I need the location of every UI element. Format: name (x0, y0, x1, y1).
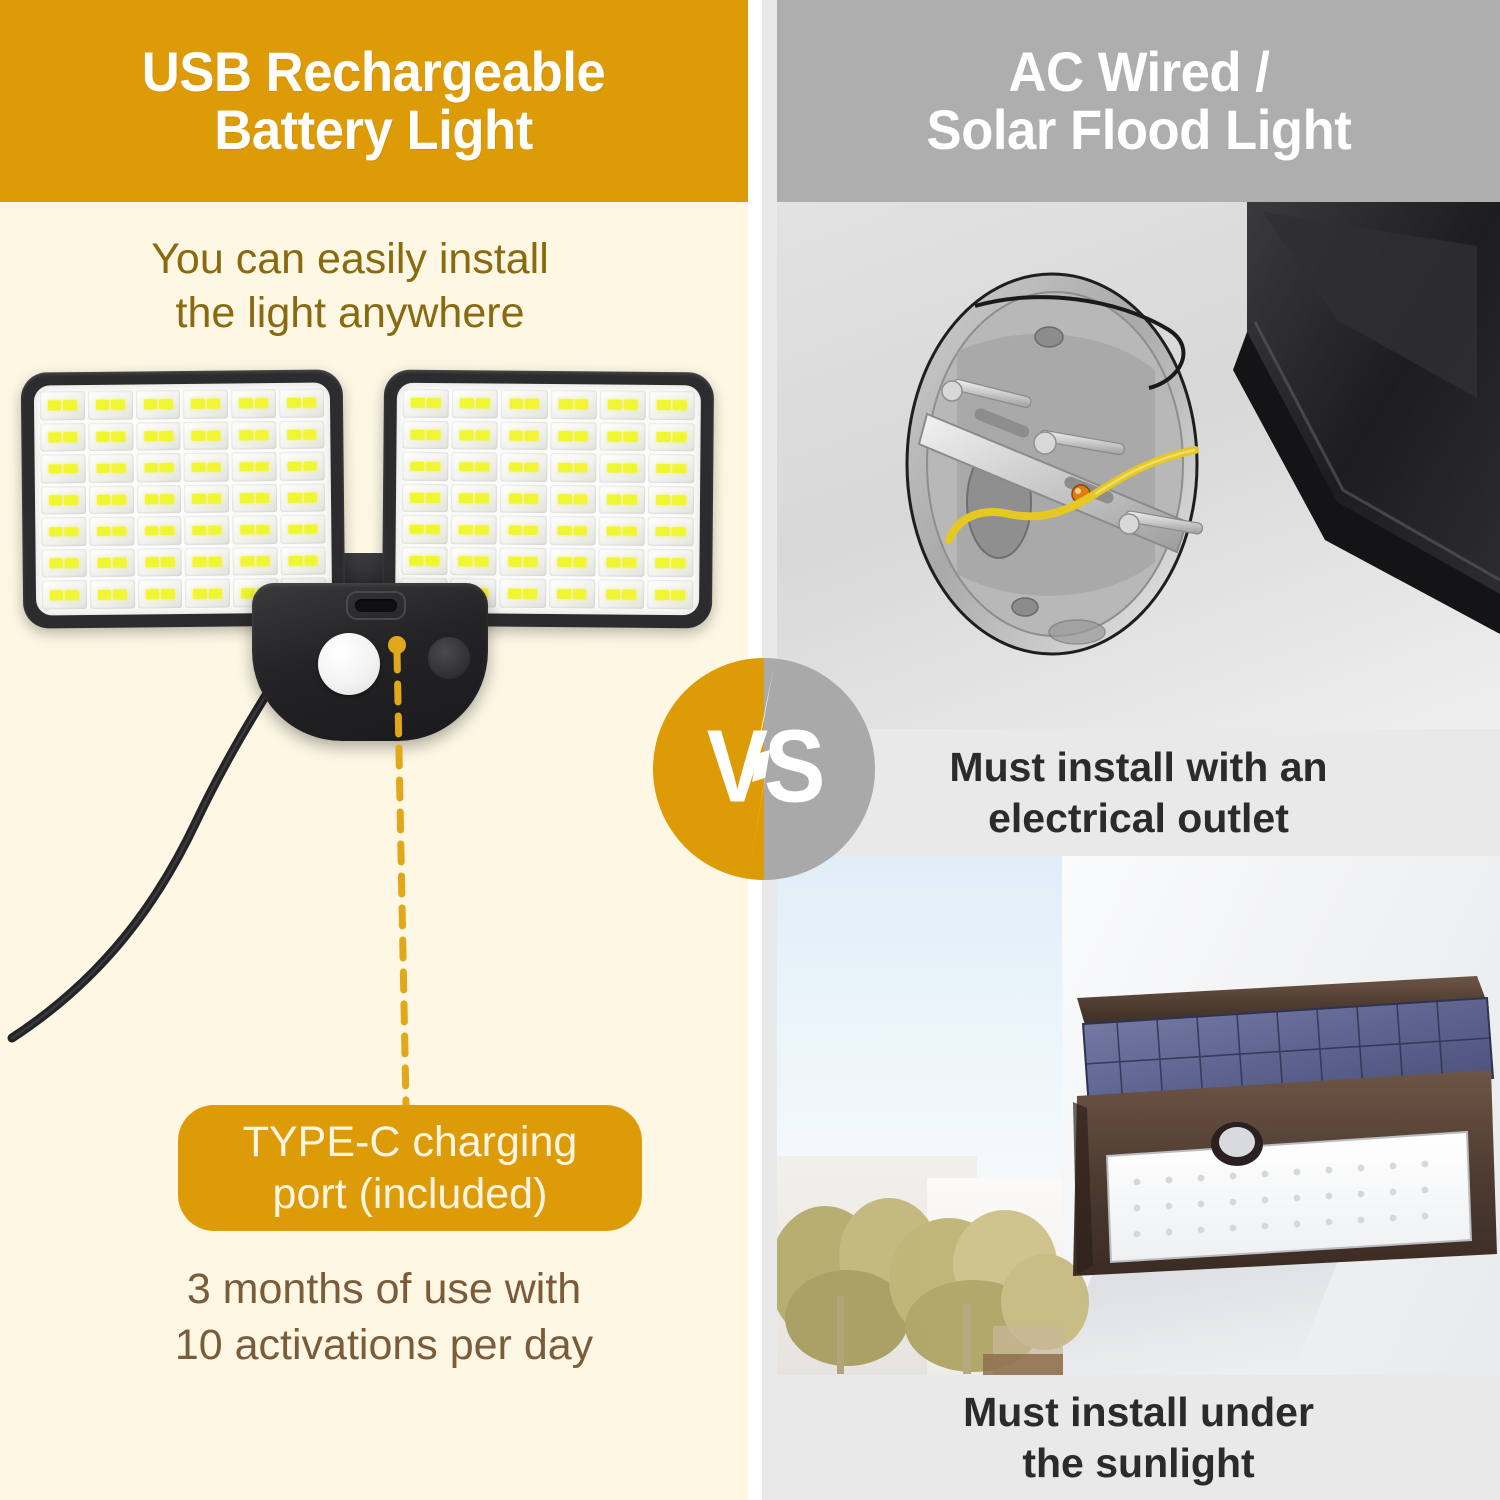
led-chip (304, 493, 318, 503)
led-chip (509, 431, 523, 441)
led-chip (192, 431, 206, 441)
led-chip (672, 464, 686, 474)
led-cell (401, 547, 447, 576)
battery-life-line2: 10 activations per day (124, 1318, 644, 1374)
led-cell (88, 454, 133, 483)
led-cell (647, 517, 693, 546)
led-chip (411, 430, 425, 440)
led-chip (411, 398, 425, 408)
led-cell (41, 517, 86, 546)
led-lens-right (395, 383, 701, 616)
led-chip (50, 559, 64, 569)
led-cell (233, 547, 278, 576)
led-chip (193, 557, 207, 567)
led-chip (97, 526, 111, 536)
right-header-banner: AC Wired / Solar Flood Light (777, 0, 1500, 202)
led-chip (303, 430, 317, 440)
led-chip (426, 461, 440, 471)
led-cell (232, 421, 277, 450)
led-chip (209, 588, 223, 598)
led-chip (303, 398, 317, 408)
led-chip (508, 588, 522, 598)
led-chip (65, 590, 79, 600)
led-chip (192, 462, 206, 472)
led-chip (65, 527, 79, 537)
led-chip (475, 557, 489, 567)
led-chip (304, 524, 318, 534)
led-chip (240, 493, 254, 503)
led-chip (524, 557, 538, 567)
led-cell (550, 390, 596, 419)
led-cell (89, 517, 134, 546)
left-subtitle-line1: You can easily install (0, 232, 700, 286)
led-cell (137, 548, 182, 577)
left-header-banner: USB Rechargeable Battery Light (0, 0, 748, 202)
outdoor-scene-trees (777, 856, 1500, 1375)
led-chip (144, 431, 158, 441)
usb-c-port-icon (355, 599, 397, 612)
led-chip (113, 589, 127, 599)
led-chip (410, 524, 424, 534)
led-chip (460, 430, 474, 440)
led-chip (427, 430, 441, 440)
led-cell (41, 454, 86, 483)
led-chip (509, 494, 523, 504)
led-chip (606, 589, 620, 599)
led-cell (598, 517, 644, 546)
led-chip (111, 400, 125, 410)
led-chip (161, 557, 175, 567)
ac-wired-caption: Must install with an electrical outlet (777, 729, 1500, 856)
led-chip (112, 432, 126, 442)
led-chip (50, 590, 64, 600)
led-chip (208, 462, 222, 472)
led-chip (459, 525, 473, 535)
led-chip (608, 400, 622, 410)
led-chip (525, 431, 539, 441)
led-chip (63, 401, 77, 411)
led-chip (289, 556, 303, 566)
led-chip (287, 430, 301, 440)
callout-anchor-dot (388, 636, 406, 654)
led-cell (598, 580, 644, 609)
led-chip (160, 526, 174, 536)
led-chip (426, 525, 440, 535)
led-cell (185, 547, 230, 576)
led-chip (207, 399, 221, 409)
led-chip (64, 495, 78, 505)
led-chip (192, 494, 206, 504)
led-chip (97, 558, 111, 568)
led-chip (208, 525, 222, 535)
led-cell (184, 453, 229, 482)
led-chip (48, 432, 62, 442)
led-cell (500, 547, 546, 576)
led-chip (303, 461, 317, 471)
led-chip (607, 432, 621, 442)
led-chip (160, 463, 174, 473)
led-chip (425, 556, 439, 566)
led-cell (402, 515, 448, 544)
led-chip (98, 590, 112, 600)
led-cell (599, 454, 645, 483)
led-cell (647, 549, 693, 578)
infographic-root: USB Rechargeable Battery Light You can e… (0, 0, 1500, 1500)
led-cell (88, 422, 133, 451)
solar-caption: Must install under the sunlight (777, 1375, 1500, 1500)
led-cell (599, 422, 645, 451)
led-chip (410, 556, 424, 566)
led-chip (256, 525, 270, 535)
solar-wall-light-photo (777, 856, 1500, 1375)
led-chip (574, 431, 588, 441)
motion-sensor-dome (318, 633, 380, 695)
led-cell (89, 485, 134, 514)
led-chip (96, 432, 110, 442)
led-chip (49, 495, 63, 505)
led-cell (138, 579, 183, 608)
led-cell (88, 391, 133, 420)
led-chip (96, 463, 110, 473)
led-chip (672, 432, 686, 442)
led-chip (460, 462, 474, 472)
led-chip (256, 556, 270, 566)
led-chip (159, 431, 173, 441)
led-cell (42, 549, 87, 578)
led-chip (524, 525, 538, 535)
led-chip (146, 589, 160, 599)
led-chip (557, 557, 571, 567)
led-chip (525, 462, 539, 472)
led-chip (656, 464, 670, 474)
led-cell (136, 453, 181, 482)
led-chip (509, 462, 523, 472)
dual-head-led-flood-light (0, 355, 740, 775)
solar-caption-text: Must install under the sunlight (963, 1387, 1314, 1489)
led-chip (623, 463, 637, 473)
led-chip (241, 525, 255, 535)
led-cell (550, 422, 596, 451)
led-chip (113, 558, 127, 568)
led-chip (524, 589, 538, 599)
power-button (428, 637, 470, 679)
led-chip (623, 495, 637, 505)
right-header-line1: AC Wired / (926, 43, 1351, 101)
led-cell (403, 389, 449, 418)
led-chip (144, 400, 158, 410)
led-chip (209, 557, 223, 567)
junction-box-illustration (777, 202, 1500, 729)
led-chip (145, 526, 159, 536)
led-chip (655, 590, 669, 600)
led-cell (501, 390, 547, 419)
led-chip (574, 463, 588, 473)
led-chip (476, 430, 490, 440)
led-chip (459, 557, 473, 567)
led-chip (288, 493, 302, 503)
led-cell (649, 391, 695, 420)
led-chip (112, 495, 126, 505)
led-chip (557, 589, 571, 599)
led-cell (451, 484, 497, 513)
led-cell (500, 484, 546, 513)
led-chip (427, 398, 441, 408)
led-cell (232, 452, 277, 481)
led-chip (410, 461, 424, 471)
led-cell (280, 483, 325, 512)
led-cell (279, 420, 324, 449)
led-chip (159, 400, 173, 410)
led-chip (426, 493, 440, 503)
led-cell (231, 389, 276, 418)
led-chip (574, 400, 588, 410)
led-chip (657, 400, 671, 410)
led-chip (656, 527, 670, 537)
led-chip (64, 464, 78, 474)
led-chip (144, 463, 158, 473)
led-cell (281, 546, 326, 575)
led-cell (185, 516, 230, 545)
led-cell (598, 548, 644, 577)
led-chip (508, 557, 522, 567)
led-chip (410, 493, 424, 503)
led-cell (41, 486, 86, 515)
solar-caption-line1: Must install under (963, 1387, 1314, 1438)
led-chip (96, 400, 110, 410)
led-cell (402, 452, 448, 481)
led-chip (240, 462, 254, 472)
led-cell (42, 580, 87, 609)
led-chip (606, 558, 620, 568)
led-chip (239, 399, 253, 409)
led-cell (280, 452, 325, 481)
led-chip (64, 432, 78, 442)
led-cell (402, 420, 448, 449)
ac-wired-caption-line2: electrical outlet (949, 793, 1327, 844)
led-chip (256, 493, 270, 503)
led-chip (657, 432, 671, 442)
led-cell (451, 452, 497, 481)
led-chip (623, 432, 637, 442)
led-chip (255, 399, 269, 409)
led-cell (499, 579, 545, 608)
led-cell (185, 579, 230, 608)
led-cell (549, 579, 595, 608)
led-cell (183, 390, 228, 419)
led-cell (136, 390, 181, 419)
led-cell (648, 486, 694, 515)
led-cell (648, 422, 694, 451)
left-subtitle: You can easily install the light anywher… (0, 232, 700, 340)
battery-life-note: 3 months of use with 10 activations per … (124, 1262, 644, 1374)
led-chip (607, 463, 621, 473)
ac-wired-caption-line1: Must install with an (949, 742, 1327, 793)
left-comparison-panel: USB Rechargeable Battery Light You can e… (0, 0, 748, 1500)
led-chip (161, 589, 175, 599)
led-cell (279, 389, 324, 418)
led-chip (524, 494, 538, 504)
led-chip (508, 525, 522, 535)
led-chip (207, 431, 221, 441)
led-chip (193, 589, 207, 599)
ac-wired-caption-text: Must install with an electrical outlet (949, 742, 1327, 844)
led-cell (549, 485, 595, 514)
led-chip (241, 557, 255, 567)
led-chip (671, 558, 685, 568)
led-chip (304, 556, 318, 566)
battery-life-line1: 3 months of use with (124, 1262, 644, 1318)
led-cell (599, 390, 645, 419)
led-chip (160, 494, 174, 504)
led-chip (672, 527, 686, 537)
solar-fixture-body (1073, 976, 1497, 1276)
led-chip (509, 399, 523, 409)
led-chip (475, 494, 489, 504)
led-chip (459, 493, 473, 503)
led-chip (476, 399, 490, 409)
led-cell (451, 515, 497, 544)
led-cell (452, 389, 498, 418)
led-chip (65, 558, 79, 568)
led-cell (450, 547, 496, 576)
lightning-bolt-icon (653, 658, 875, 880)
led-chip (573, 589, 587, 599)
led-cell (137, 485, 182, 514)
vs-badge: VS (653, 658, 875, 880)
led-chip (49, 527, 63, 537)
led-cell (500, 453, 546, 482)
led-chip (112, 463, 126, 473)
type-c-callout-text: TYPE-C charging port (included) (243, 1116, 578, 1221)
led-chip (48, 401, 62, 411)
led-chip (97, 495, 111, 505)
led-chip (475, 525, 489, 535)
led-cell (599, 485, 645, 514)
led-chip (145, 558, 159, 568)
led-chip (558, 431, 572, 441)
led-chip (607, 526, 621, 536)
led-chip (557, 526, 571, 536)
led-chip (573, 558, 587, 568)
led-cell (500, 516, 546, 545)
led-chip (191, 399, 205, 409)
led-cell (280, 515, 325, 544)
right-header-line2: Solar Flood Light (926, 101, 1351, 159)
led-chip (145, 494, 159, 504)
led-chip (288, 461, 302, 471)
left-header-line1: USB Rechargeable (142, 43, 605, 101)
led-chip (525, 399, 539, 409)
electrical-junction-box-photo (777, 202, 1500, 729)
led-chip (460, 399, 474, 409)
led-chip (255, 462, 269, 472)
type-c-callout-line2: port (included) (243, 1168, 578, 1220)
led-chip (607, 495, 621, 505)
led-chip (656, 495, 670, 505)
led-cell (184, 484, 229, 513)
led-cell (40, 423, 85, 452)
led-cell (550, 453, 596, 482)
led-cell (402, 483, 448, 512)
solar-caption-line2: the sunlight (963, 1438, 1314, 1489)
led-cell (549, 548, 595, 577)
led-chip (558, 494, 572, 504)
led-cell (232, 484, 277, 513)
left-header-text: USB Rechargeable Battery Light (142, 43, 605, 159)
led-chip (671, 590, 685, 600)
led-chip (113, 526, 127, 536)
led-cell (452, 421, 498, 450)
led-chip (240, 430, 254, 440)
led-chip (475, 462, 489, 472)
led-chip (655, 558, 669, 568)
led-cell (648, 454, 694, 483)
led-chip (622, 526, 636, 536)
type-c-callout-line1: TYPE-C charging (243, 1116, 578, 1168)
left-header-line2: Battery Light (142, 101, 605, 159)
led-chip (193, 525, 207, 535)
led-cell (136, 422, 181, 451)
led-lens-left (34, 382, 332, 615)
led-cell (501, 421, 547, 450)
led-chip (208, 494, 222, 504)
left-subtitle-line2: the light anywhere (0, 286, 700, 340)
right-header-text: AC Wired / Solar Flood Light (926, 43, 1351, 159)
led-chip (49, 464, 63, 474)
led-cell (233, 515, 278, 544)
led-chip (624, 400, 638, 410)
led-cell (549, 516, 595, 545)
led-cell (647, 580, 693, 609)
led-chip (558, 463, 572, 473)
led-cell (40, 391, 85, 420)
led-chip (673, 401, 687, 411)
led-cell (137, 516, 182, 545)
led-chip (622, 589, 636, 599)
led-chip (288, 524, 302, 534)
led-chip (559, 400, 573, 410)
led-chip (672, 495, 686, 505)
led-chip (287, 398, 301, 408)
led-chip (622, 558, 636, 568)
led-cell (89, 548, 134, 577)
led-chip (255, 430, 269, 440)
type-c-callout-pill: TYPE-C charging port (included) (178, 1105, 642, 1231)
led-chip (573, 526, 587, 536)
led-cell (90, 580, 135, 609)
led-cell (184, 421, 229, 450)
led-chip (574, 494, 588, 504)
